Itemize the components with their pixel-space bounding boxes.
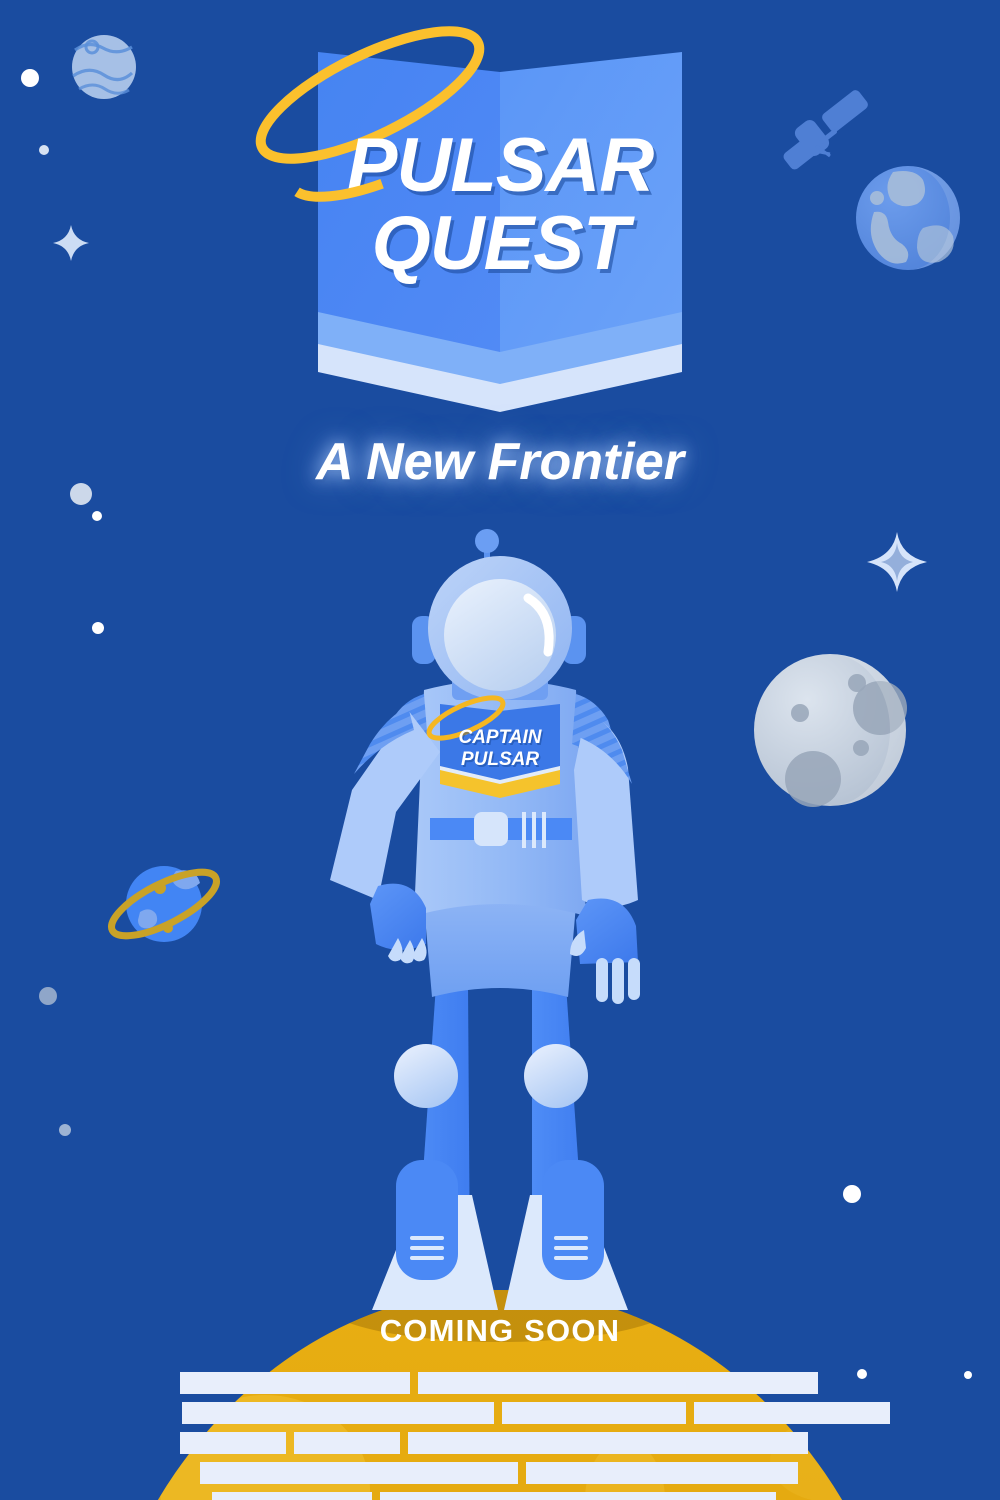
astronaut-helmet — [412, 529, 586, 700]
knee-pad-right — [524, 1044, 588, 1108]
boot-insert-right — [542, 1160, 604, 1280]
chest-badge-face — [440, 704, 560, 780]
astronaut-hips — [424, 894, 576, 997]
knee-pad-left — [394, 1044, 458, 1108]
boot-insert-left — [396, 1160, 458, 1280]
astronaut-figure — [0, 0, 1000, 1500]
helmet-visor — [444, 579, 556, 691]
belt-buckle — [474, 812, 508, 846]
poster-canvas: PULSAR QUEST A New Frontier — [0, 0, 1000, 1500]
astronaut-legs — [372, 985, 628, 1310]
astronaut-arm-right — [570, 710, 640, 1004]
helmet-antenna-ball — [475, 529, 499, 553]
glove-right — [576, 898, 638, 964]
